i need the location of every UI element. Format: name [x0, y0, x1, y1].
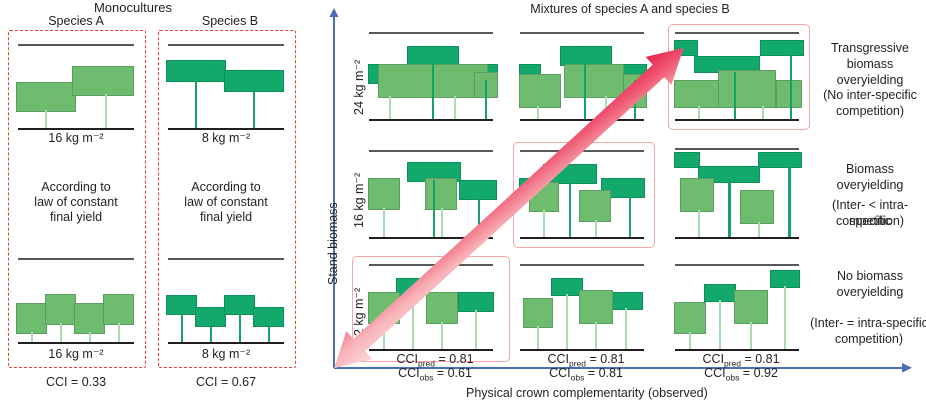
- annotation-row3-title-2: overyielding: [816, 284, 924, 300]
- species-b-top-plot: [162, 40, 290, 132]
- species-b-bottom-biomass: 8 kg m⁻²: [162, 347, 290, 362]
- species-a-top-biomass: 16 kg m⁻²: [12, 131, 140, 146]
- cci-obs-label-2: CCI: [549, 366, 571, 380]
- y-axis-label: Stand biomass: [326, 202, 340, 285]
- cci-pred-label-2: CCI: [547, 352, 569, 366]
- cci-obs-value-1: = 0.61: [433, 366, 472, 380]
- annotation-row1-note-2: competition): [814, 103, 926, 119]
- mixture-plot-r1c3: [672, 28, 808, 128]
- cci-obs-label-1: CCI: [398, 366, 420, 380]
- annotation-row3-title-1: No biomass: [816, 268, 924, 284]
- species-b-note-1: According to: [162, 180, 290, 195]
- cci-obs-label-3: CCI: [704, 366, 726, 380]
- mixture-plot-r2c2: [517, 146, 653, 246]
- annotation-row2-note-2: competition): [812, 213, 926, 229]
- cci-pred-label-1: CCI: [396, 352, 418, 366]
- annotation-row2-title-1: Biomass overyielding: [812, 161, 926, 193]
- cci-obs-sub-2: obs: [571, 373, 585, 383]
- y-tick-16: 16 kg m⁻²: [351, 173, 366, 228]
- y-axis-line: [333, 14, 335, 368]
- annotation-row3-note-1: (Inter- = intra-specific: [810, 315, 926, 331]
- cci-obs-col3: CCIobs = 0.92: [676, 366, 806, 383]
- species-a-note-1: According to: [12, 180, 140, 195]
- species-a-bottom-biomass: 16 kg m⁻²: [12, 347, 140, 362]
- annotation-row3-note-2: competition): [810, 331, 926, 347]
- species-b-bottom-plot: [162, 255, 290, 347]
- y-tick-24: 24 kg m⁻²: [351, 60, 366, 115]
- mixture-plot-r2c1: [366, 146, 502, 246]
- species-a-note-3: final yield: [12, 210, 140, 225]
- cci-pred-value-3: = 0.81: [741, 352, 780, 366]
- cci-pred-value-2: = 0.81: [586, 352, 625, 366]
- cci-obs-sub-1: obs: [420, 373, 434, 383]
- annotation-row1-title-2: biomass overyielding: [812, 56, 926, 88]
- species-b-top-biomass: 8 kg m⁻²: [162, 131, 290, 146]
- cci-obs-value-2: = 0.81: [584, 366, 623, 380]
- species-b-note-3: final yield: [162, 210, 290, 225]
- species-a-cci: CCI = 0.33: [12, 375, 140, 390]
- cci-obs-col1: CCIobs = 0.61: [370, 366, 500, 383]
- cci-pred-label-3: CCI: [702, 352, 724, 366]
- mixture-plot-r3c2: [517, 262, 653, 358]
- species-a-top-plot: [12, 40, 140, 132]
- cci-obs-sub-3: obs: [726, 373, 740, 383]
- mixtures-title: Mixtures of species A and species B: [480, 2, 780, 17]
- species-b-title: Species B: [180, 14, 280, 29]
- species-a-note-2: law of constant: [12, 195, 140, 210]
- mixture-plot-r1c2: [517, 28, 653, 128]
- mixture-plot-r3c3: [672, 262, 808, 358]
- species-b-note-2: law of constant: [162, 195, 290, 210]
- figure-root: Monocultures Species A Species B 16 kg m…: [0, 0, 926, 405]
- cci-obs-col2: CCIobs = 0.81: [521, 366, 651, 383]
- species-b-cci: CCI = 0.67: [162, 375, 290, 390]
- x-axis-label: Physical crown complementarity (observed…: [466, 386, 708, 401]
- cci-obs-value-3: = 0.92: [739, 366, 778, 380]
- monocultures-title: Monocultures: [78, 0, 188, 15]
- species-a-title: Species A: [26, 14, 126, 29]
- mixture-plot-r3c1: [366, 262, 502, 358]
- mixture-plot-r2c3: [672, 146, 808, 246]
- cci-pred-value-1: = 0.81: [435, 352, 474, 366]
- x-axis-arrowhead: [898, 360, 914, 376]
- species-a-bottom-plot: [12, 255, 140, 347]
- annotation-row1-title-1: Transgressive: [816, 40, 924, 56]
- annotation-row1-note-1: (No inter-specific: [814, 87, 926, 103]
- mixture-plot-r1c1: [366, 28, 502, 128]
